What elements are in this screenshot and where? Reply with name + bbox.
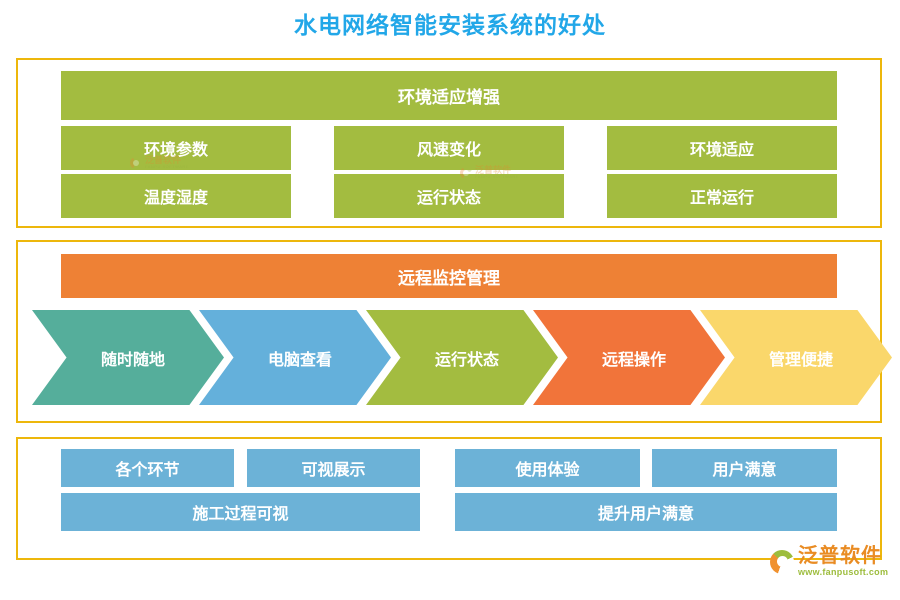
green-cell-r2c3[interactable]: 正常运行 <box>607 174 837 218</box>
brand-logo-text: 泛普软件 www.fanpusoft.com <box>798 546 888 577</box>
blue-cell-r2c2[interactable]: 提升用户满意 <box>455 493 837 531</box>
brand-name: 泛普软件 <box>798 546 888 566</box>
blue-cell-r1c1[interactable]: 各个环节 <box>61 449 234 487</box>
section-remote-monitoring: 远程监控管理 随时随地 电脑查看 运行状态 远程操作 管理便捷 <box>16 240 882 423</box>
green-cell-r2c2[interactable]: 运行状态 <box>334 174 564 218</box>
blue-cell-r1c2[interactable]: 可视展示 <box>247 449 420 487</box>
chevron-step-5[interactable]: 管理便捷 <box>700 310 892 405</box>
green-cell-r1c2[interactable]: 风速变化 <box>334 126 564 170</box>
section-header-environment-adaptation: 环境适应增强 <box>61 71 837 120</box>
brand-url: www.fanpusoft.com <box>798 568 888 577</box>
section-user-experience: 各个环节 可视展示 使用体验 用户满意 施工过程可视 提升用户满意 <box>16 437 882 560</box>
green-cell-r2c1[interactable]: 温度湿度 <box>61 174 291 218</box>
chevron-step-3[interactable]: 运行状态 <box>366 310 558 405</box>
section-environment-adaptation: 环境适应增强 环境参数 风速变化 环境适应 温度湿度 运行状态 正常运行 <box>16 58 882 228</box>
chevron-step-4[interactable]: 远程操作 <box>533 310 725 405</box>
fanpu-logo-icon <box>770 550 794 574</box>
blue-cell-r1c4[interactable]: 用户满意 <box>652 449 837 487</box>
blue-cell-r1c3[interactable]: 使用体验 <box>455 449 640 487</box>
green-cell-r1c3[interactable]: 环境适应 <box>607 126 837 170</box>
page-title: 水电网络智能安装系统的好处 <box>0 8 900 42</box>
chevron-step-2[interactable]: 电脑查看 <box>199 310 391 405</box>
brand-logo[interactable]: 泛普软件 www.fanpusoft.com <box>770 546 888 577</box>
section-header-remote-monitoring: 远程监控管理 <box>61 254 837 298</box>
green-cell-r1c1[interactable]: 环境参数 <box>61 126 291 170</box>
chevron-step-1[interactable]: 随时随地 <box>32 310 224 405</box>
chevron-row: 随时随地 电脑查看 运行状态 远程操作 管理便捷 <box>32 310 870 405</box>
blue-cell-r2c1[interactable]: 施工过程可视 <box>61 493 420 531</box>
